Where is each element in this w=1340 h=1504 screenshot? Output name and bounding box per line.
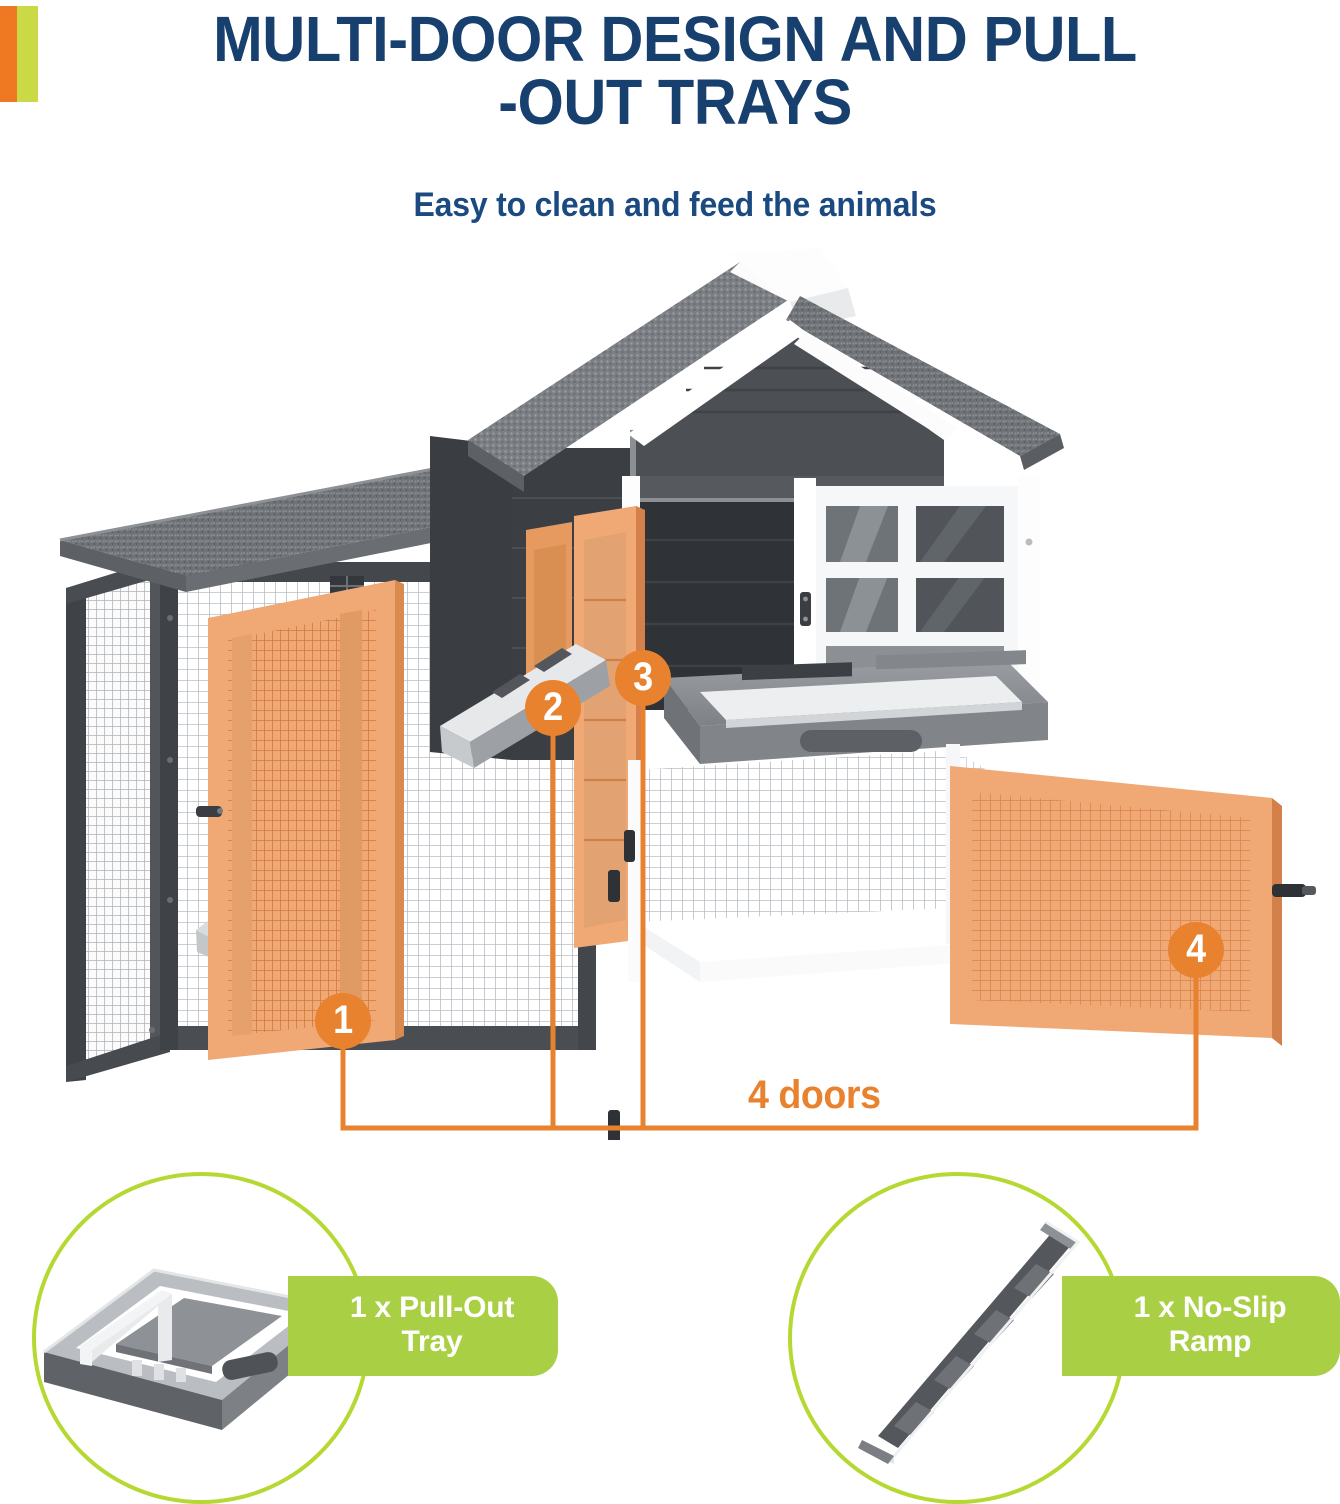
doors-count-label: 4 doors bbox=[748, 1073, 881, 1118]
feature-label-2: 1 x No-Slip Ramp bbox=[1062, 1276, 1340, 1376]
page-title: MULTI-DOOR DESIGN AND PULL -OUT TRAYS bbox=[84, 8, 1265, 133]
feature-label-1-line-2: Tray bbox=[350, 1325, 514, 1359]
callout-badge-3[interactable]: 3 bbox=[615, 650, 671, 706]
page-title-line-2: -OUT TRAYS bbox=[84, 71, 1265, 134]
feature-card-no-slip-ramp: 1 x No-Slip Ramp bbox=[670, 1168, 1340, 1500]
accent-stripe-orange bbox=[0, 6, 17, 102]
door-4-panel bbox=[950, 766, 1316, 1046]
feature-label-1-line-1: 1 x Pull-Out bbox=[350, 1291, 514, 1325]
feature-label-2-line-1: 1 x No-Slip bbox=[1134, 1291, 1287, 1325]
callout-badge-4[interactable]: 4 bbox=[1168, 922, 1224, 978]
feature-card-pull-out-tray: 1 x Pull-Out Tray bbox=[0, 1168, 670, 1500]
no-slip-ramp-icon bbox=[810, 1202, 1100, 1464]
feature-label-2-line-2: Ramp bbox=[1134, 1325, 1287, 1359]
callout-badge-3-number: 3 bbox=[633, 657, 653, 697]
feature-label-1: 1 x Pull-Out Tray bbox=[288, 1276, 558, 1376]
callout-badge-4-number: 4 bbox=[1186, 929, 1206, 969]
callout-badge-1-number: 1 bbox=[333, 1000, 353, 1040]
door-1-panel bbox=[196, 580, 404, 1060]
accent-color-bar bbox=[0, 6, 38, 102]
infographic-page: MULTI-DOOR DESIGN AND PULL -OUT TRAYS Ea… bbox=[0, 0, 1340, 1500]
callout-badge-1[interactable]: 1 bbox=[315, 993, 371, 1049]
page-title-line-1: MULTI-DOOR DESIGN AND PULL bbox=[213, 3, 1137, 75]
callout-badge-2-number: 2 bbox=[543, 687, 563, 727]
accent-stripe-green bbox=[17, 6, 38, 102]
product-illustration bbox=[0, 240, 1340, 1140]
callout-badge-2[interactable]: 2 bbox=[525, 680, 581, 736]
page-subtitle: Easy to clean and feed the animals bbox=[78, 186, 1272, 225]
